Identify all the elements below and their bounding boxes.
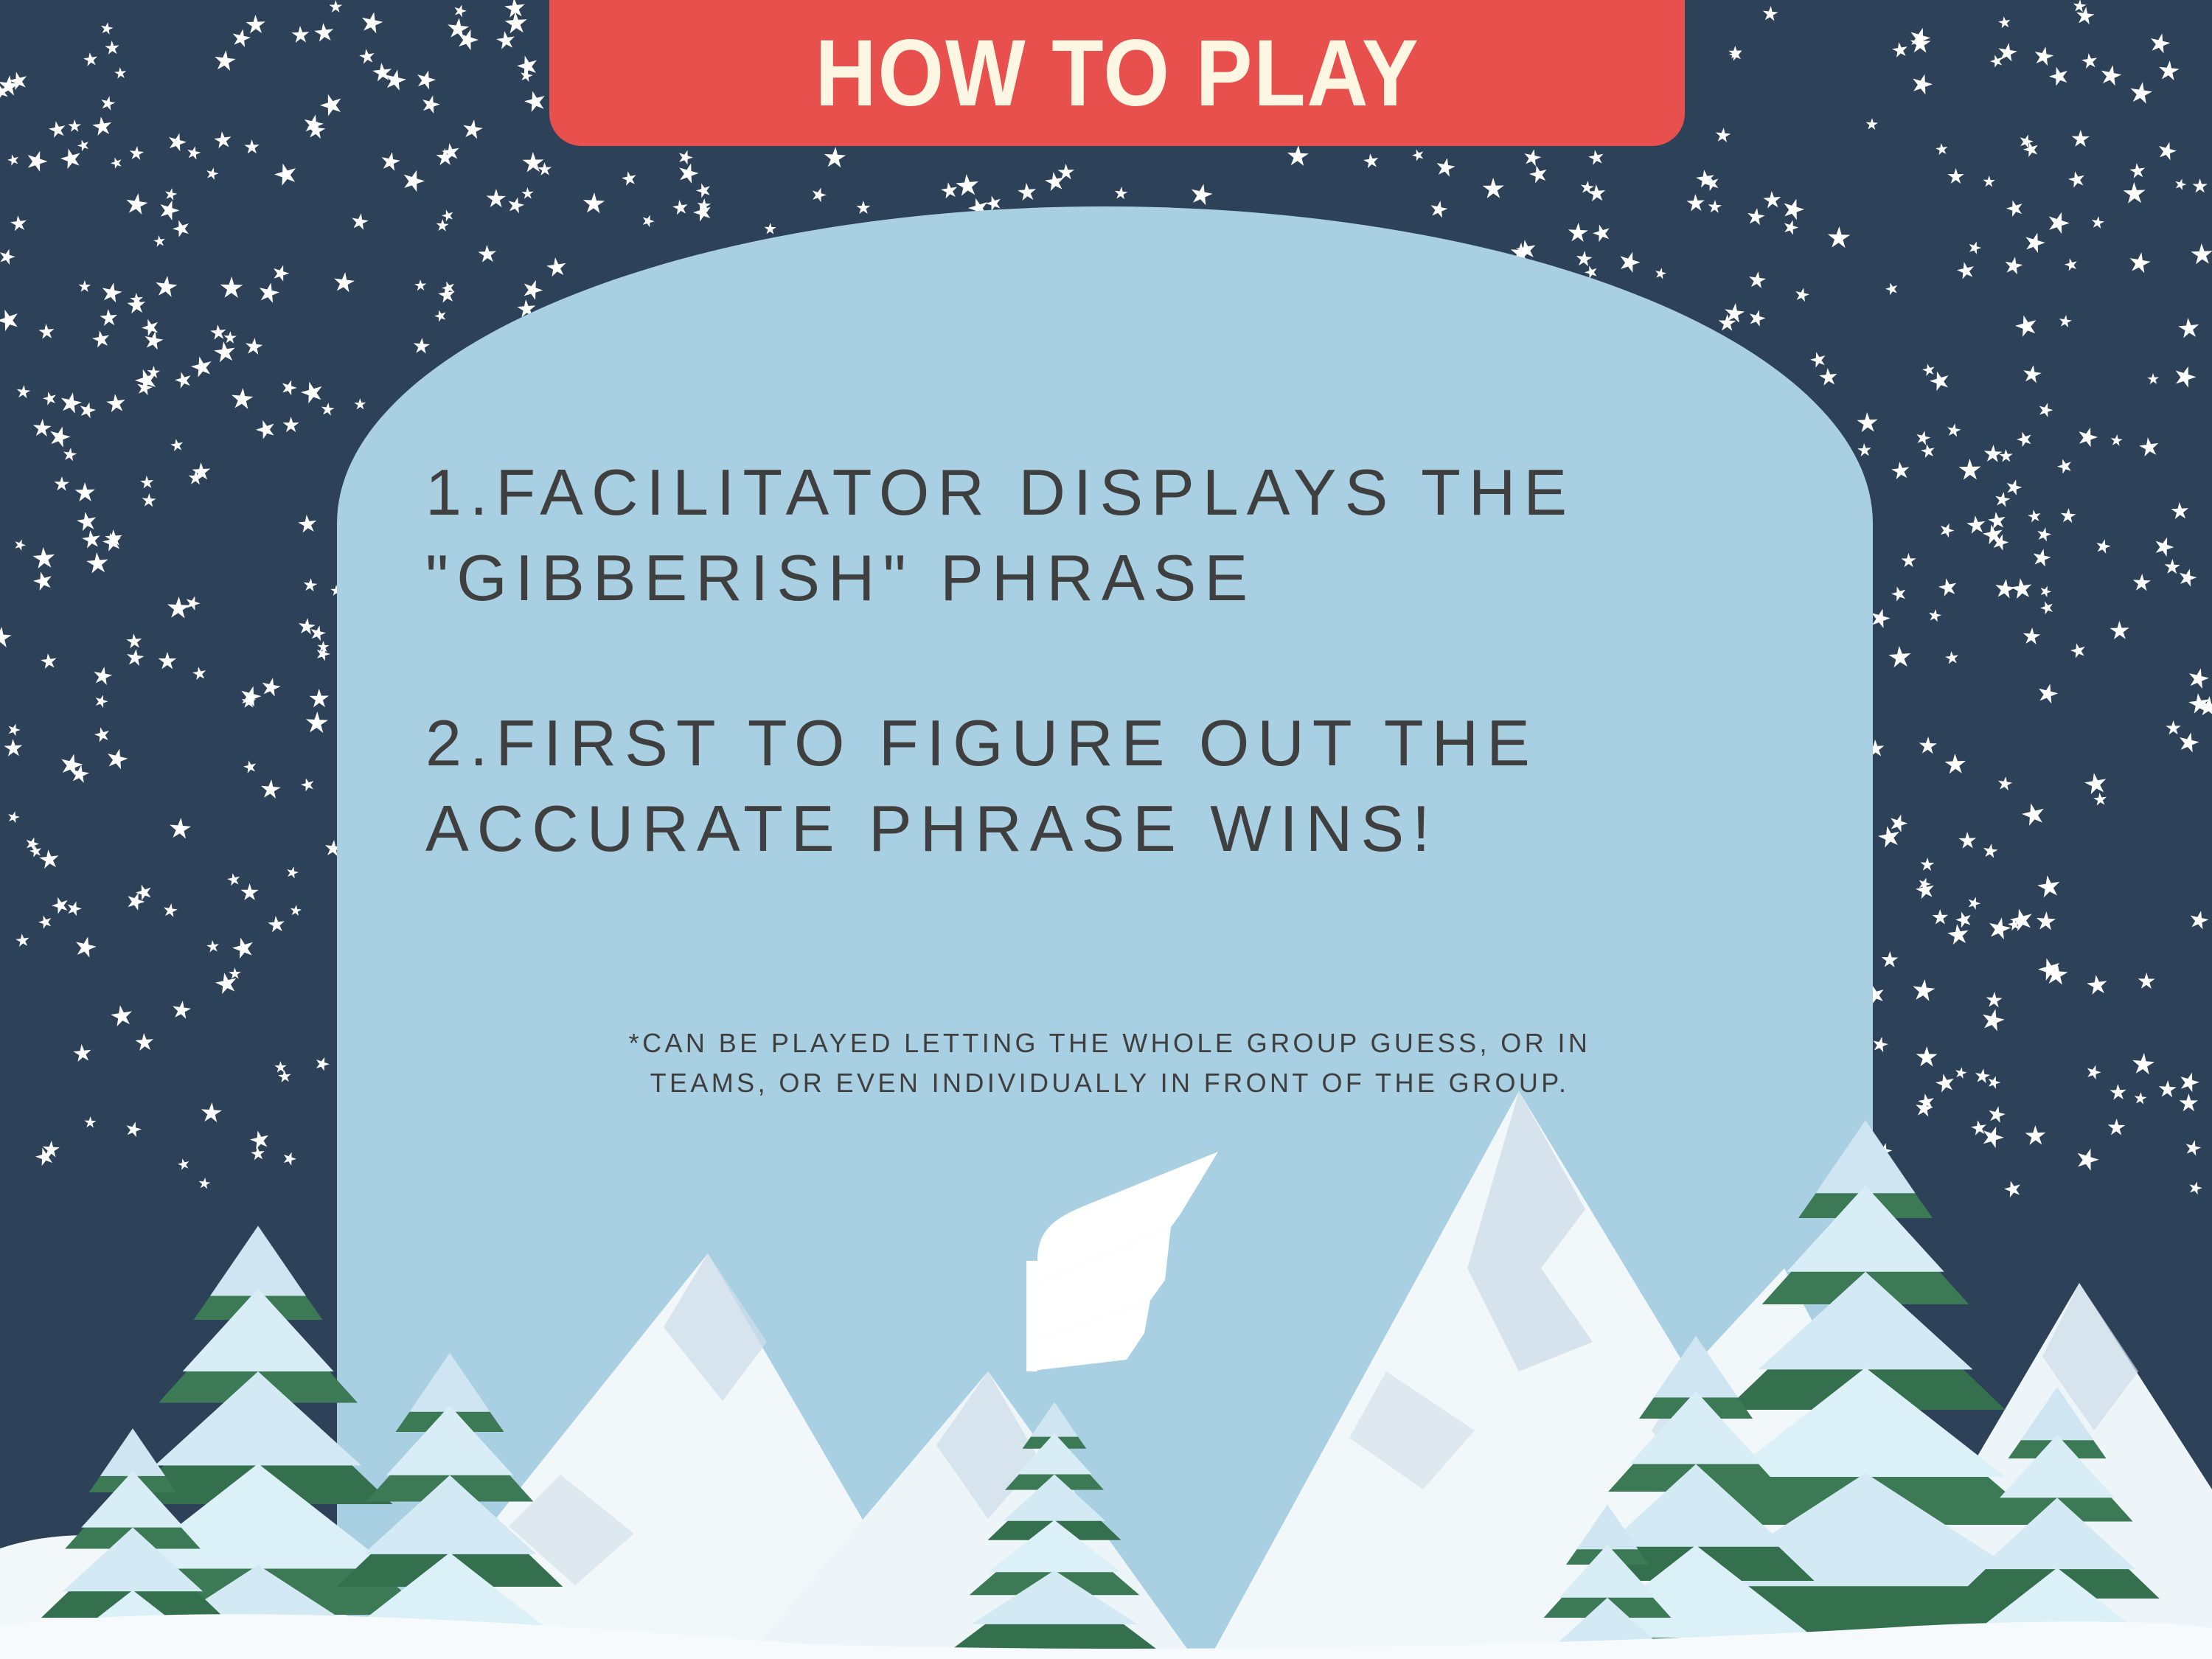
steps-list: 1.FACILITATOR DISPLAYS THE "GIBBERISH" P… — [425, 450, 1797, 872]
wing-logo-icon — [997, 1150, 1218, 1371]
step-item-2: 2.FIRST TO FIGURE OUT THE ACCURATE PHRAS… — [425, 700, 1797, 872]
panel-content: 1.FACILITATOR DISPLAYS THE "GIBBERISH" P… — [337, 206, 1873, 1659]
slide-canvas: HOW TO PLAY 1.FACILITATOR DISPLAYS THE "… — [0, 0, 2212, 1659]
how-to-play-banner: HOW TO PLAY — [549, 0, 1685, 146]
step-item-1: 1.FACILITATOR DISPLAYS THE "GIBBERISH" P… — [425, 450, 1797, 621]
banner-title: HOW TO PLAY — [815, 27, 1419, 146]
footnote-line-1: *CAN BE PLAYED LETTING THE WHOLE GROUP G… — [417, 1023, 1803, 1063]
footnote: *CAN BE PLAYED LETTING THE WHOLE GROUP G… — [417, 1023, 1803, 1103]
footnote-line-2: TEAMS, OR EVEN INDIVIDUALLY IN FRONT OF … — [417, 1063, 1803, 1103]
